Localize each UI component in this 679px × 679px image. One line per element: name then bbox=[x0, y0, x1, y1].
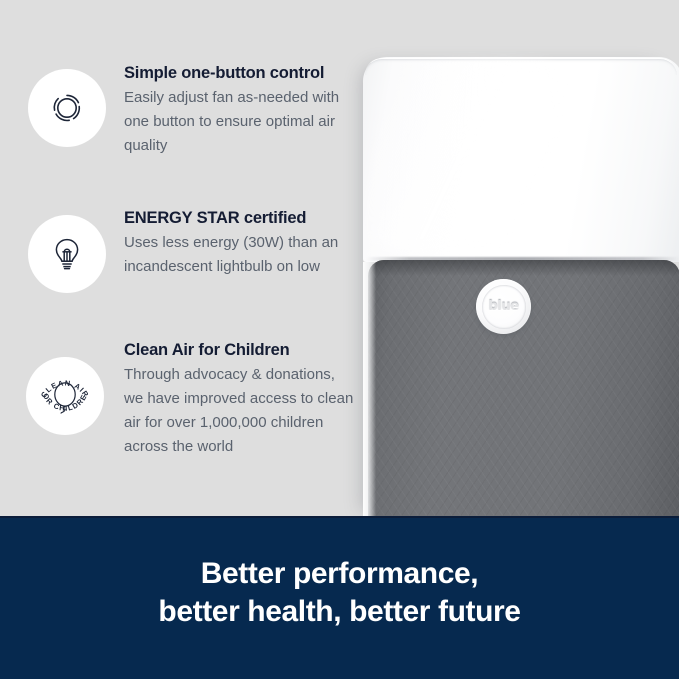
feature-text-block: Simple one-button control Easily adjust … bbox=[124, 64, 356, 158]
blueair-brand-label: blue bbox=[488, 299, 518, 314]
feature-title: Clean Air for Children bbox=[124, 341, 356, 360]
feature-title: ENERGY STAR certified bbox=[124, 209, 356, 228]
feature-item-energy-star-certified: ENERGY STAR certified Uses less energy (… bbox=[28, 209, 356, 293]
banner-headline-line-1: Better performance, bbox=[0, 555, 679, 593]
banner-headline-line-2: better health, better future bbox=[0, 593, 679, 631]
feature-body: Through advocacy & donations, we have im… bbox=[124, 363, 356, 459]
bottom-tagline-banner: Better performance, better health, bette… bbox=[0, 516, 679, 679]
feature-body: Uses less energy (30W) than an incandesc… bbox=[124, 231, 356, 279]
feature-item-clean-air-for-children: CLEAN AIR FOR CHILDREN Clean Air for Chi… bbox=[26, 341, 356, 459]
power-ring-icon bbox=[28, 69, 106, 147]
purifier-highlight bbox=[371, 61, 561, 251]
purifier-white-top-housing bbox=[363, 57, 679, 262]
feature-body: Easily adjust fan as-needed with one but… bbox=[124, 86, 356, 158]
banner-headline: Better performance, better health, bette… bbox=[0, 518, 679, 631]
product-feature-infographic: blue Simple one-button control Easily ad… bbox=[0, 0, 679, 679]
feature-title: Simple one-button control bbox=[124, 64, 356, 83]
air-purifier-product-image: blue bbox=[363, 57, 679, 517]
lightbulb-icon bbox=[28, 215, 106, 293]
prefilter-top-shadow bbox=[368, 260, 679, 276]
feature-text-block: ENERGY STAR certified Uses less energy (… bbox=[124, 209, 356, 279]
feature-text-block: Clean Air for Children Through advocacy … bbox=[124, 341, 356, 459]
purifier-power-button: blue bbox=[476, 279, 531, 334]
feature-item-simple-one-button-control: Simple one-button control Easily adjust … bbox=[28, 64, 356, 158]
purifier-left-edge-highlight bbox=[363, 262, 376, 517]
clean-air-for-children-badge-icon: CLEAN AIR FOR CHILDREN bbox=[26, 357, 104, 435]
power-button-inner: blue bbox=[482, 285, 526, 329]
